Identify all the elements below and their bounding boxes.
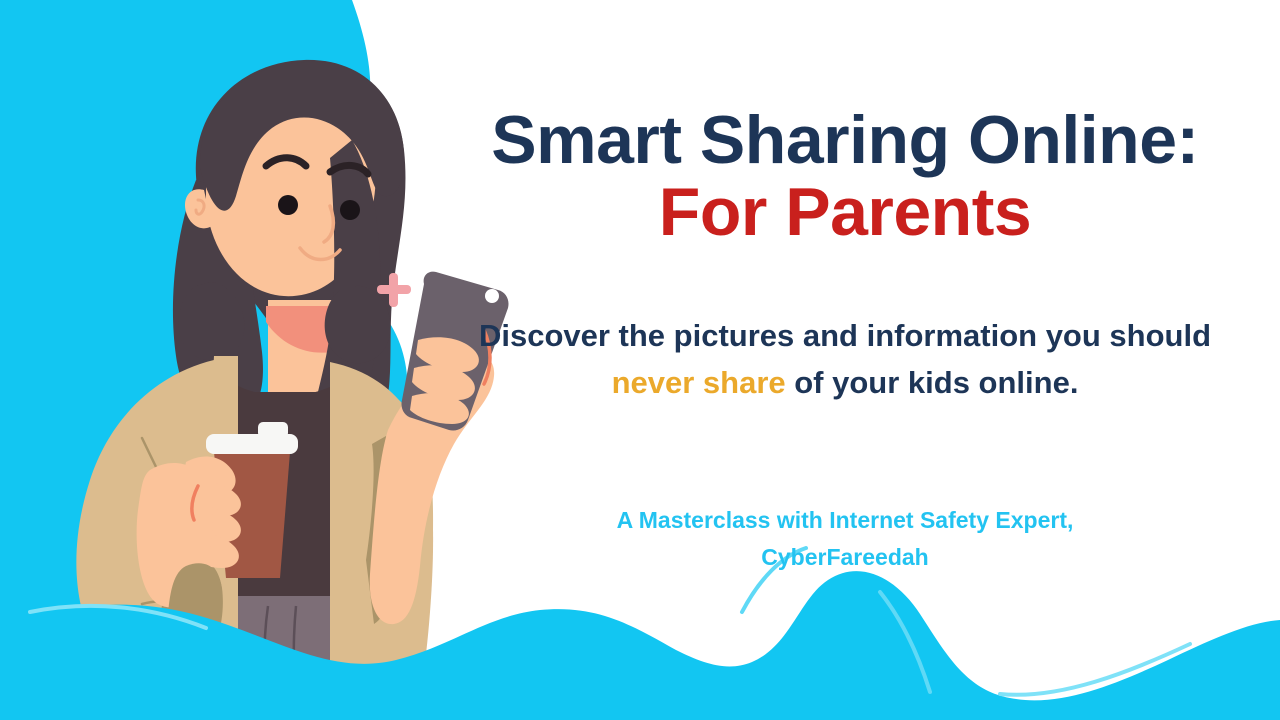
headline-line-1: Smart Sharing Online: <box>420 104 1270 176</box>
plus-icon <box>377 273 411 307</box>
headline-line-2: For Parents <box>420 176 1270 248</box>
credit-line-1: A Masterclass with Internet Safety Exper… <box>470 502 1220 539</box>
subheading-text-part-2: of your kids online. <box>786 365 1079 400</box>
credit-block: A Masterclass with Internet Safety Exper… <box>470 502 1220 577</box>
subheading-text-part-1: Discover the pictures and information yo… <box>479 318 1211 353</box>
plus-icon-vertical <box>389 273 398 307</box>
poster-canvas: Smart Sharing Online: For Parents Discov… <box>0 0 1280 720</box>
credit-line-2: CyberFareedah <box>470 539 1220 576</box>
headline-block: Smart Sharing Online: For Parents <box>420 104 1270 248</box>
subheading-highlight: never share <box>612 365 786 400</box>
subheading-block: Discover the pictures and information yo… <box>450 312 1240 406</box>
